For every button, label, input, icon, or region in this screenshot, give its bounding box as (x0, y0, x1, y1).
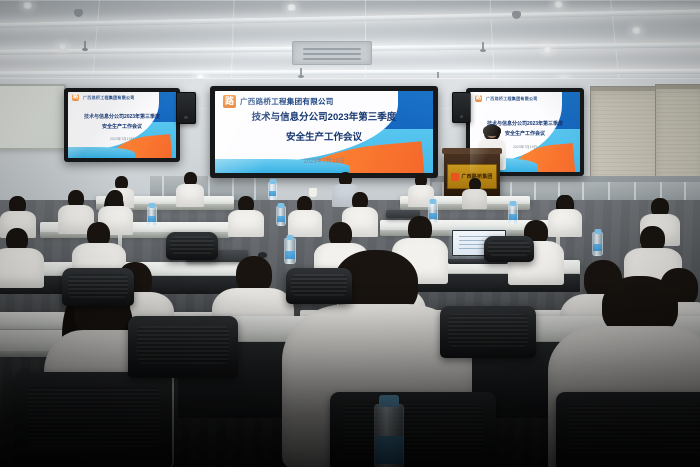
ceiling-downlight (542, 46, 553, 53)
window-blinds (590, 86, 662, 186)
office-chair[interactable] (62, 268, 134, 306)
sprinkler-head-icon (300, 68, 302, 76)
water-bottle (592, 232, 603, 256)
office-chair[interactable] (330, 392, 496, 467)
left-side-display[interactable]: 路 广西路桥工程集团有限公司 技术与信息分公司2023年第三季度 安全生产工作会… (64, 88, 180, 162)
office-chair[interactable] (166, 232, 218, 260)
ceiling-downlight (553, 1, 564, 8)
whiteboard (0, 84, 66, 150)
slide-date: 2023年7月19日 (513, 145, 537, 150)
seated-attendee (0, 228, 44, 284)
office-chair[interactable] (440, 306, 536, 358)
office-chair[interactable] (484, 236, 534, 262)
water-bottle-foreground[interactable] (374, 404, 404, 467)
company-logo-icon: 路 (72, 94, 79, 101)
seated-attendee (176, 172, 204, 206)
office-chair[interactable] (556, 392, 700, 467)
ceiling-downlight (286, 4, 297, 11)
office-chair[interactable] (14, 372, 172, 467)
slide-date: 2023年7月19日 (303, 156, 344, 165)
slide-title-line1: 技术与信息分公司2023年第三季度 (487, 120, 563, 127)
slide-title-line2: 安全生产工作会议 (102, 123, 142, 130)
ceiling-downlight (57, 44, 68, 51)
water-bottle (268, 182, 277, 200)
podium-logo-icon (451, 173, 459, 181)
conference-room-photo: 路 广西路桥工程集团有限公司 技术与信息分公司2023年第三季度 安全生产工作会… (0, 0, 700, 467)
slide-title-line2: 安全生产工作会议 (286, 129, 362, 143)
company-logo-icon: 路 (475, 95, 482, 102)
smoke-detector-icon (74, 9, 83, 17)
seated-attendee (462, 178, 487, 208)
seated-attendee (228, 196, 264, 236)
water-bottle (147, 206, 157, 226)
ceiling-light-strip (0, 9, 700, 29)
sprinkler-head-icon (84, 41, 86, 49)
office-chair[interactable] (128, 316, 238, 378)
window-blinds (655, 84, 700, 190)
ceiling-downlight (22, 2, 33, 9)
company-logo-text: 广西路桥工程集团有限公司 (83, 95, 135, 101)
slide-mirror-right: 路 广西路桥工程集团有限公司 技术与信息分公司2023年第三季度 安全生产工作会… (470, 92, 580, 172)
wall-speaker (452, 92, 471, 123)
right-side-display[interactable]: 路 广西路桥工程集团有限公司 技术与信息分公司2023年第三季度 安全生产工作会… (466, 88, 584, 176)
main-projection-screen[interactable]: 路 广西路桥工程集团有限公司 技术与信息分公司2023年第三季度 安全生产工作会… (210, 86, 438, 178)
sprinkler-head-icon (482, 42, 484, 50)
ceiling-light-strip (0, 69, 700, 77)
office-chair[interactable] (286, 268, 352, 304)
slide-title-line1: 技术与信息分公司2023年第三季度 (84, 113, 160, 120)
ceiling-air-conditioner-vent (292, 41, 372, 65)
company-logo-icon: 路 (223, 95, 236, 108)
wall-speaker (176, 92, 196, 124)
slide-date: 2023年7月19日 (110, 137, 134, 142)
water-bottle (276, 206, 286, 226)
slide-title-line2: 安全生产工作会议 (505, 130, 545, 137)
ceiling-downlight (631, 27, 642, 34)
company-logo-text: 广西路桥工程集团有限公司 (486, 96, 538, 102)
slide-mirror-left: 路 广西路桥工程集团有限公司 技术与信息分公司2023年第三季度 安全生产工作会… (68, 92, 176, 158)
company-logo-text: 广西路桥工程集团有限公司 (240, 96, 334, 107)
slide-primary: 路 广西路桥工程集团有限公司 技术与信息分公司2023年第三季度 安全生产工作会… (215, 91, 433, 173)
